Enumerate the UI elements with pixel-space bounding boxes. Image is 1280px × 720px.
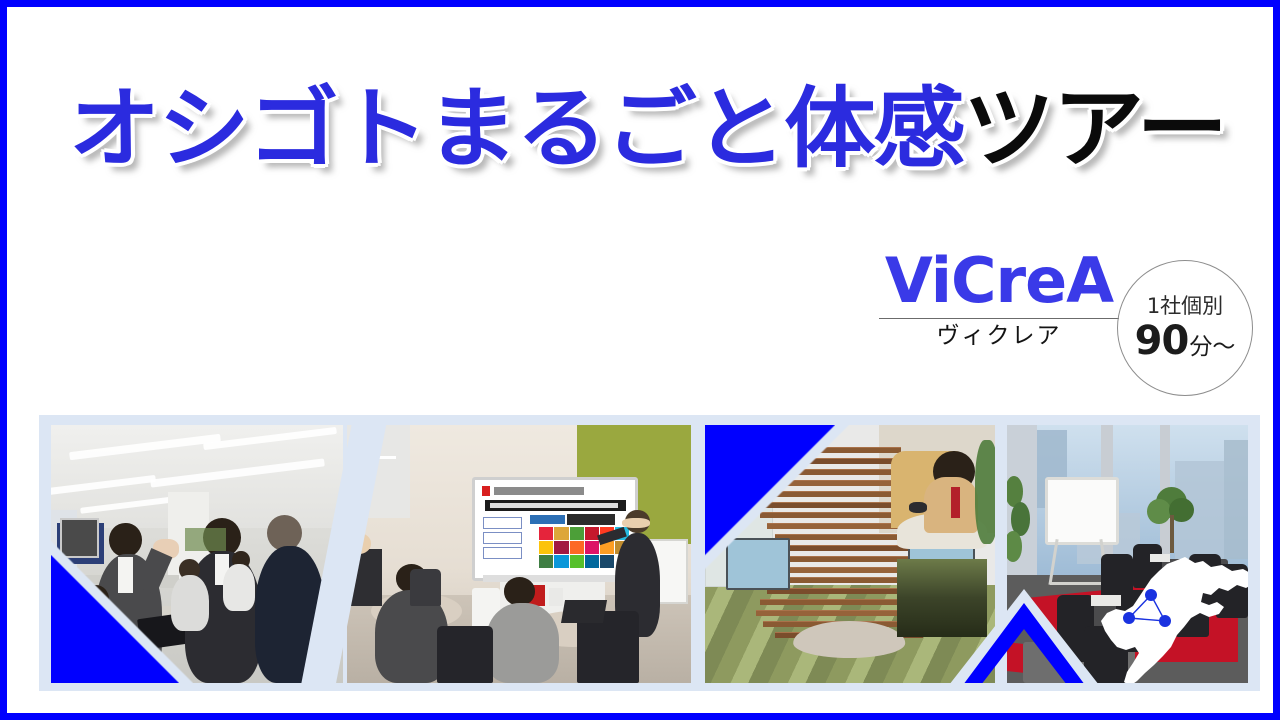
photo-office-floor-tour: [51, 425, 343, 683]
tower-base: [793, 621, 905, 658]
brand-reading: ヴィクレア: [879, 322, 1119, 351]
brand-name: ViCreA: [879, 250, 1119, 312]
brand-logo: ViCreA ヴィクレア: [879, 250, 1119, 351]
accent-blue-triangle: [51, 555, 179, 683]
photo-strip: [39, 415, 1260, 691]
title-black-segment: ツアー: [963, 85, 1226, 173]
hokkaido-map: [1091, 555, 1248, 683]
panel-separator: [691, 425, 705, 683]
accent-blue-chevron: [949, 589, 1099, 683]
photo-sdgs-seminar: [347, 425, 695, 683]
presentation-display: [472, 477, 638, 581]
brand-divider: [879, 318, 1119, 319]
slide-root: オシゴトまるごと体感ツアー ViCreA ヴィクレア 1社個別 90 分〜: [0, 0, 1280, 720]
badge-duration: 90 分〜: [1135, 321, 1236, 361]
duration-badge: 1社個別 90 分〜: [1117, 260, 1253, 396]
badge-duration-number: 90: [1135, 321, 1189, 361]
title-blue-segment: オシゴトまるごと体感: [68, 85, 962, 173]
badge-top-label: 1社個別: [1147, 296, 1223, 317]
photo-panels: [51, 425, 1248, 683]
page-title: オシゴトまるごと体感ツアー: [7, 85, 1280, 173]
photo-canvas: [51, 425, 343, 683]
photo-canvas: [347, 425, 695, 683]
accent-blue-triangle: [699, 425, 835, 561]
badge-duration-unit: 分〜: [1189, 336, 1235, 359]
whiteboard: [1045, 477, 1120, 545]
